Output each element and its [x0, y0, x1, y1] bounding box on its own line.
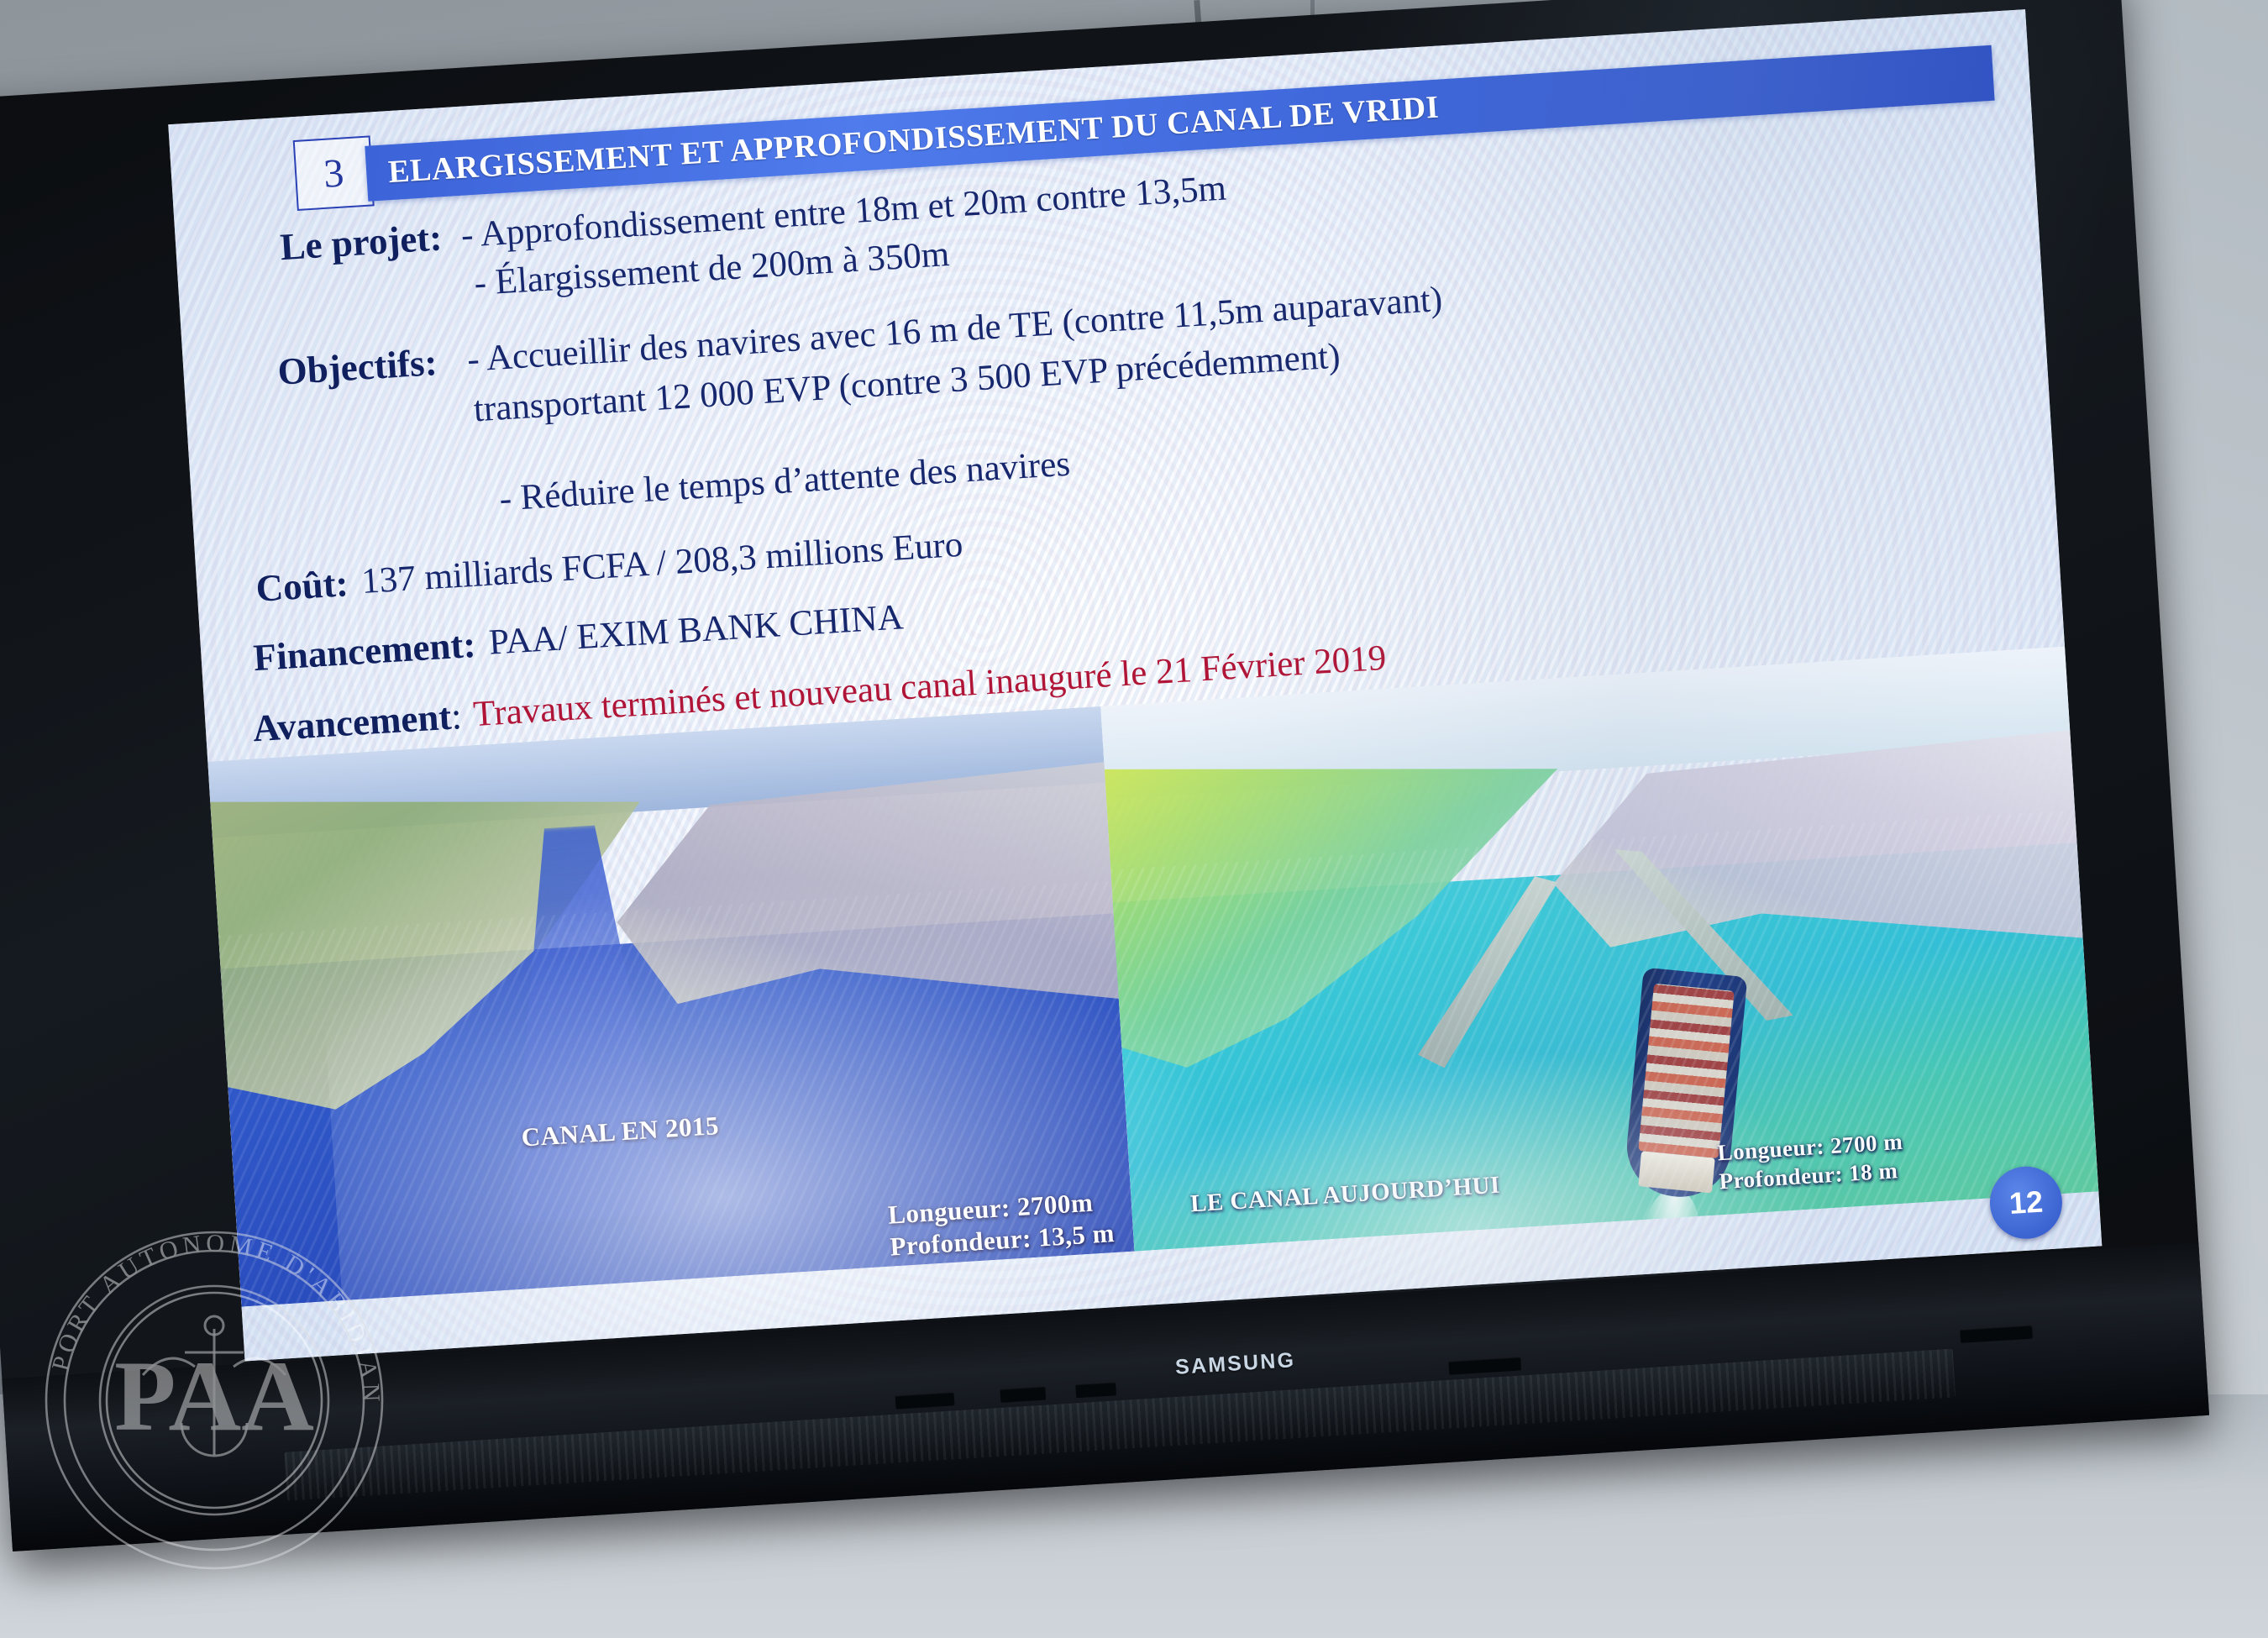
label-projet: Le projet:	[279, 215, 448, 270]
financement-value: PAA/ EXIM BANK CHINA	[475, 596, 905, 665]
samsung-brand-logo: SAMSUNG	[1174, 1348, 1296, 1380]
label-cout: Coût:	[255, 561, 349, 612]
label-avancement: Avancement	[251, 695, 452, 752]
section-number-box: 3	[293, 135, 375, 211]
label-financement: Financement:	[252, 622, 477, 680]
row-financement: Financement: PAA/ EXIM BANK CHINA	[252, 596, 905, 680]
photo-canal-aujourdhui: LE CANAL AUJOURD’HUI Longueur: 2700 m Pr…	[1100, 647, 2098, 1252]
television: 3 ELARGISSEMENT ET APPROFONDISSEMENT DU …	[0, 0, 2209, 1551]
tv-port-5	[1960, 1326, 2033, 1343]
tv-port-3	[1075, 1382, 1116, 1398]
section-number: 3	[323, 150, 345, 197]
presentation-slide: 3 ELARGISSEMENT ET APPROFONDISSEMENT DU …	[168, 9, 2102, 1361]
tv-port-2	[1000, 1387, 1046, 1403]
cout-value: 137 milliards FCFA / 208,3 millions Euro	[347, 523, 964, 605]
tv-screen: 3 ELARGISSEMENT ET APPROFONDISSEMENT DU …	[168, 9, 2102, 1361]
photo-right-sea-texture	[1110, 810, 2098, 1251]
tv-port-1	[895, 1392, 955, 1409]
photo-comparison: CANAL EN 2015 Longueur: 2700m Profondeur…	[207, 647, 2098, 1307]
caption-right-dimensions: Longueur: 2700 m Profondeur: 18 m	[1717, 1128, 1906, 1196]
tv-port-4	[1448, 1357, 1521, 1374]
room-scene: 3 ELARGISSEMENT ET APPROFONDISSEMENT DU …	[0, 0, 2268, 1638]
label-objectifs: Objectifs:	[276, 339, 457, 395]
photo-canal-2015: CANAL EN 2015 Longueur: 2700m Profondeur…	[207, 706, 1134, 1307]
slide-title: ELARGISSEMENT ET APPROFONDISSEMENT DU CA…	[387, 89, 1440, 192]
objectifs-line-3: - Réduire le temps d’attente des navires	[498, 443, 1071, 522]
